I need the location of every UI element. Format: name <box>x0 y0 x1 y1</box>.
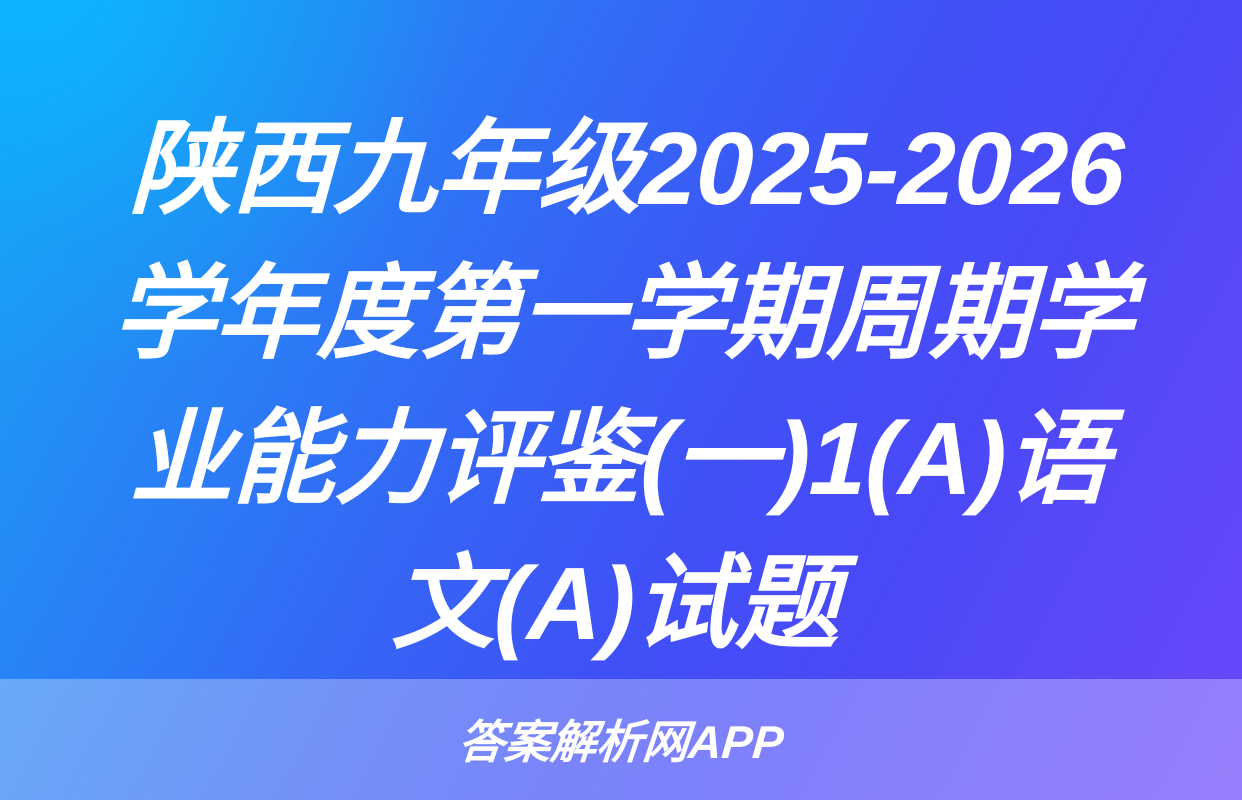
page-title: 陕西九年级2025-2026学年度第一学期周期学业能力评鉴(一)1(A)语文(A… <box>78 96 1163 676</box>
app-promo-label: 答案解析网APP <box>457 715 786 765</box>
poster-title-block: 陕西九年级2025-2026学年度第一学期周期学业能力评鉴(一)1(A)语文(A… <box>0 0 1242 676</box>
poster-canvas: 陕西九年级2025-2026学年度第一学期周期学业能力评鉴(一)1(A)语文(A… <box>0 0 1242 800</box>
app-promo-banner[interactable]: 答案解析网APP <box>0 679 1242 800</box>
